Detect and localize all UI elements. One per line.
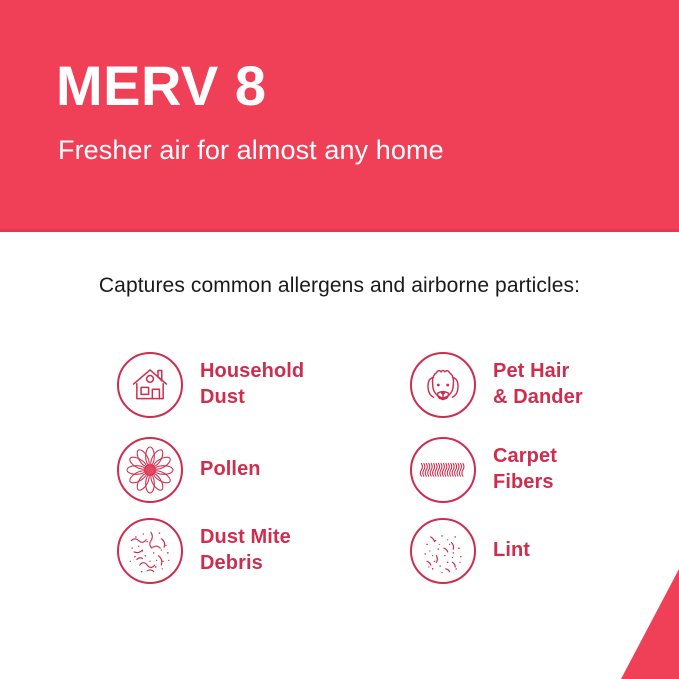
caption-text: Captures common allergens and airborne p… [0, 274, 679, 298]
merv8-info-card: MERV 8 Fresher air for almost any home C… [0, 0, 679, 679]
lint-icon [410, 518, 476, 584]
page-subtitle: Fresher air for almost any home [58, 136, 444, 166]
feature-label: Carpet Fibers [493, 444, 557, 495]
banner-bottom-rule [0, 229, 679, 232]
flower-icon [117, 437, 183, 503]
feature-label: Pet Hair & Dander [493, 359, 583, 410]
feature-pollen: Pollen [117, 437, 261, 503]
dust-mite-icon [117, 518, 183, 584]
carpet-fiber-icon [410, 437, 476, 503]
corner-triangle-decoration [621, 569, 679, 679]
feature-carpet-fibers: Carpet Fibers [410, 437, 557, 503]
page-title: MERV 8 [56, 58, 266, 114]
feature-label: Pollen [200, 457, 261, 483]
feature-dust-mite-debris: Dust Mite Debris [117, 518, 291, 584]
feature-label: Dust Mite Debris [200, 525, 291, 576]
feature-household-dust: Household Dust [117, 352, 304, 418]
feature-lint: Lint [410, 518, 530, 584]
header-banner: MERV 8 Fresher air for almost any home [0, 0, 679, 231]
feature-label: Lint [493, 538, 530, 564]
dog-face-icon [410, 352, 476, 418]
house-icon [117, 352, 183, 418]
feature-grid: Household Dust [0, 352, 679, 612]
feature-label: Household Dust [200, 359, 304, 410]
feature-pet-hair-dander: Pet Hair & Dander [410, 352, 583, 418]
